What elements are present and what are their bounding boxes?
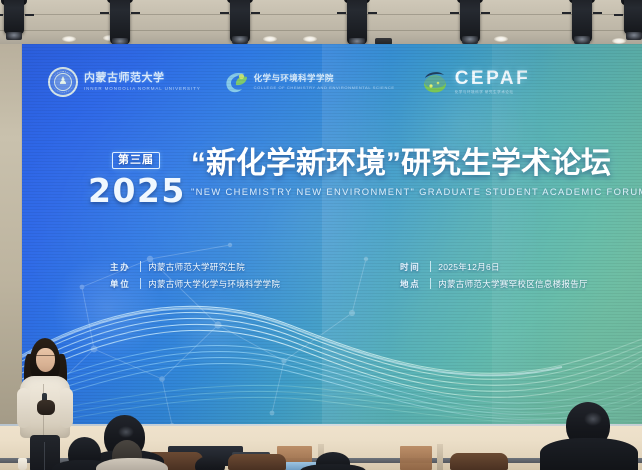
college-name-en: COLLEGE OF CHEMISTRY AND ENVIRONMENTAL S… — [254, 86, 395, 90]
ceiling-downlight — [62, 36, 76, 42]
organizer-info: 主办 内蒙古师范大学研究生院 单位 内蒙古师大学化学与环境科学学院 — [110, 258, 280, 292]
quote-close: ” — [386, 147, 401, 180]
time-label: 时间 — [400, 261, 426, 273]
title-cn: “新化学新环境”研究生学术论坛 — [191, 148, 631, 180]
ceiling-downlight — [494, 36, 508, 42]
ceiling-downlight — [303, 36, 317, 42]
university-seal-icon: ♟ — [48, 67, 78, 97]
organizer-label-1: 主办 — [110, 261, 136, 273]
title-en: "NEW CHEMISTRY NEW ENVIRONMENT" GRADUATE… — [191, 186, 631, 197]
university-name-en: INNER MONGOLIA NORMAL UNIVERSITY — [84, 87, 201, 92]
chair-back — [450, 453, 508, 470]
title-theme-cn: 新化学新环境 — [206, 147, 386, 180]
logo-college-leaf: 化学与环境科学学院 COLLEGE OF CHEMISTRY AND ENVIR… — [223, 69, 395, 95]
logo-imnu-seal: ♟ 内蒙古师范大学 INNER MONGOLIA NORMAL UNIVERSI… — [48, 67, 201, 97]
ceiling-downlight — [263, 36, 277, 42]
year-label: 2025 — [88, 174, 184, 207]
title-column: “新化学新环境”研究生学术论坛 "NEW CHEMISTRY NEW ENVIR… — [191, 148, 631, 197]
speaker-face — [36, 348, 55, 372]
leaf-swirl-icon — [223, 69, 249, 95]
quote-open: “ — [191, 147, 206, 180]
cepaf-sub-cn: 化学与环境科学 研究生学术论坛 — [455, 91, 530, 95]
organizer-value-1: 内蒙古师范大学研究生院 — [148, 261, 245, 273]
speaker-hands — [37, 400, 55, 415]
divider — [140, 261, 141, 272]
cepaf-wordmark: CEPAF — [455, 69, 530, 88]
divider — [430, 278, 431, 289]
speaker-person — [14, 338, 76, 470]
stage-light — [2, 0, 26, 46]
logo-cepaf: CEPAF 化学与环境科学 研究生学术论坛 — [421, 69, 530, 95]
organizer-row-2: 单位 内蒙古师大学化学与环境科学学院 — [110, 275, 280, 292]
wave-ribbon-decor — [22, 269, 642, 429]
desk-post — [437, 444, 443, 470]
time-value: 2025年12月6日 — [438, 261, 500, 273]
divider — [140, 278, 141, 289]
title-rest-cn: 研究生学术论坛 — [401, 147, 611, 180]
university-name-cn: 内蒙古师范大学 — [84, 73, 201, 84]
chair-back — [228, 454, 286, 470]
location-label: 地点 — [400, 278, 426, 290]
organizer-label-2: 单位 — [110, 278, 136, 290]
desk-wood-panel — [400, 446, 432, 470]
paper-cup — [18, 458, 27, 470]
location-value: 内蒙古师范大学赛罕校区信息楼报告厅 — [438, 278, 588, 290]
ceiling — [0, 0, 642, 46]
logo-row: ♟ 内蒙古师范大学 INNER MONGOLIA NORMAL UNIVERSI… — [48, 62, 468, 102]
stage-light — [622, 0, 642, 46]
edition-year-column: 第三届 2025 — [88, 150, 184, 207]
glasses-icon — [36, 355, 55, 359]
globe-leaf-icon — [421, 69, 449, 95]
organizer-value-2: 内蒙古师大学化学与环境科学学院 — [148, 278, 280, 290]
college-name-cn: 化学与环境科学学院 — [254, 74, 395, 83]
conference-hall-scene: ♟ 内蒙古师范大学 INNER MONGOLIA NORMAL UNIVERSI… — [0, 0, 642, 470]
edition-badge: 第三届 — [112, 152, 160, 169]
cepaf-text: CEPAF 化学与环境科学 研究生学术论坛 — [455, 69, 530, 95]
led-screen: ♟ 内蒙古师范大学 INNER MONGOLIA NORMAL UNIVERSI… — [22, 44, 642, 429]
college-name: 化学与环境科学学院 COLLEGE OF CHEMISTRY AND ENVIR… — [254, 74, 395, 90]
seal-glyph: ♟ — [59, 77, 68, 87]
organizer-row-1: 主办 内蒙古师范大学研究生院 — [110, 258, 280, 275]
details-row-1: 时间 2025年12月6日 — [400, 258, 588, 275]
details-row-2: 地点 内蒙古师范大学赛罕校区信息楼报告厅 — [400, 275, 588, 292]
event-details-info: 时间 2025年12月6日 地点 内蒙古师范大学赛罕校区信息楼报告厅 — [400, 258, 588, 292]
university-name: 内蒙古师范大学 INNER MONGOLIA NORMAL UNIVERSITY — [84, 73, 201, 92]
divider — [430, 261, 431, 272]
